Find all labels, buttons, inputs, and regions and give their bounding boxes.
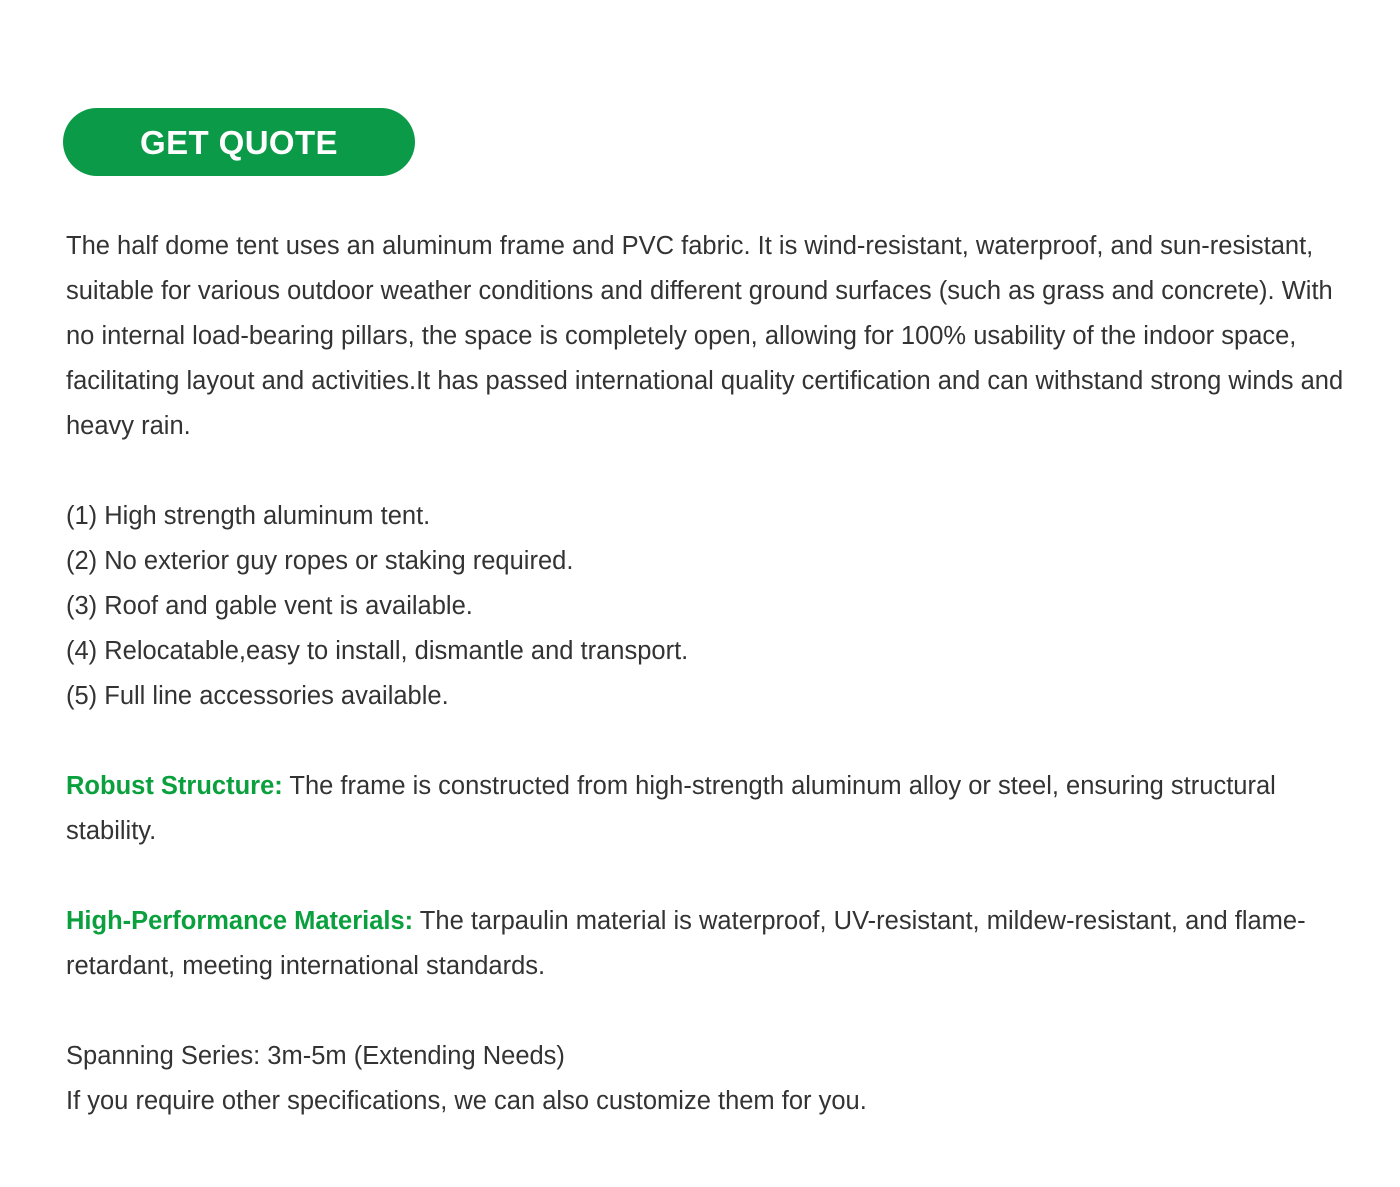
get-quote-button[interactable]: GET QUOTE (63, 108, 415, 176)
customization-note-line: If you require other specifications, we … (66, 1079, 1356, 1124)
list-item: (3) Roof and gable vent is available. (66, 584, 1356, 629)
list-item: (1) High strength aluminum tent. (66, 494, 1356, 539)
list-item: (2) No exterior guy ropes or staking req… (66, 539, 1356, 584)
product-description-page: GET QUOTE The half dome tent uses an alu… (0, 0, 1400, 1187)
spacer (66, 854, 1356, 899)
list-item: (4) Relocatable,easy to install, dismant… (66, 629, 1356, 674)
intro-paragraph: The half dome tent uses an aluminum fram… (66, 224, 1356, 449)
cta-container: GET QUOTE (63, 108, 415, 176)
highlight-title: High-Performance Materials: (66, 907, 413, 935)
feature-list: (1) High strength aluminum tent. (2) No … (66, 494, 1356, 719)
spanning-series-line: Spanning Series: 3m-5m (Extending Needs) (66, 1034, 1356, 1079)
description-content: The half dome tent uses an aluminum fram… (66, 224, 1356, 1124)
highlight-robust-structure: Robust Structure: The frame is construct… (66, 764, 1356, 854)
highlight-title: Robust Structure: (66, 772, 283, 800)
spacer (66, 989, 1356, 1034)
list-item: (5) Full line accessories available. (66, 674, 1356, 719)
spacer (66, 719, 1356, 764)
highlight-high-performance-materials: High-Performance Materials: The tarpauli… (66, 899, 1356, 989)
spacer (66, 449, 1356, 494)
